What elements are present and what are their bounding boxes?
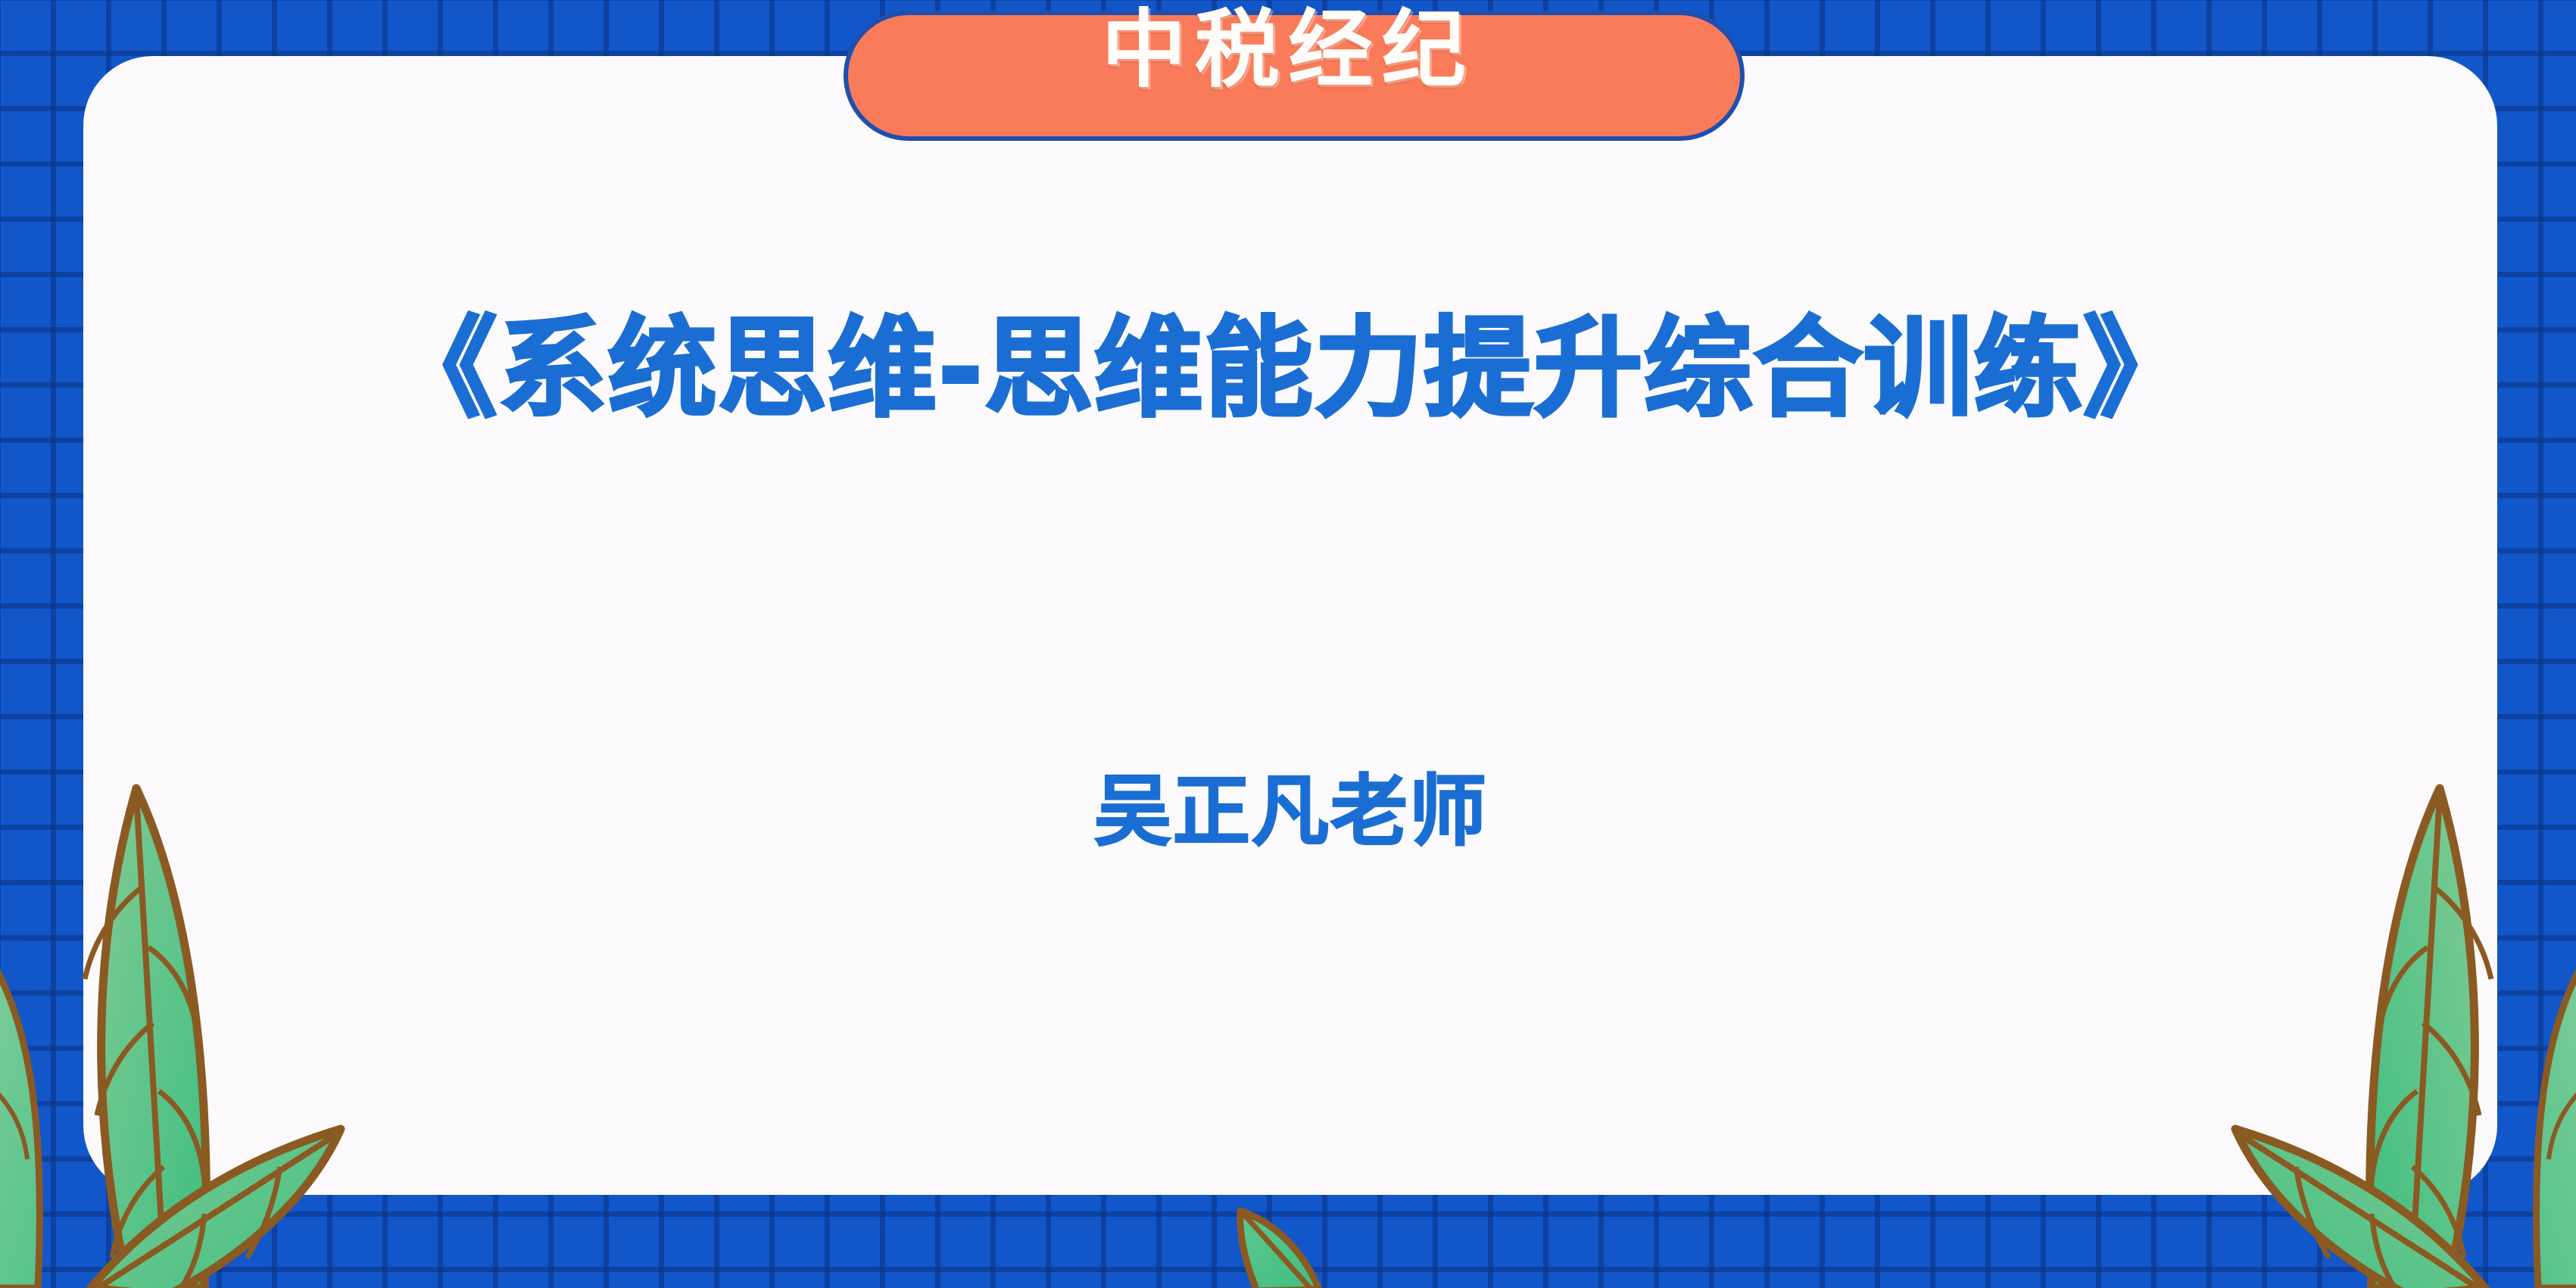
content-card xyxy=(83,56,2497,1195)
brand-badge-label: 中税经纪 xyxy=(0,0,2576,115)
slide-canvas: 中税经纪 《系统思维-思维能力提升综合训练》 吴正凡老师 xyxy=(0,0,2576,1288)
